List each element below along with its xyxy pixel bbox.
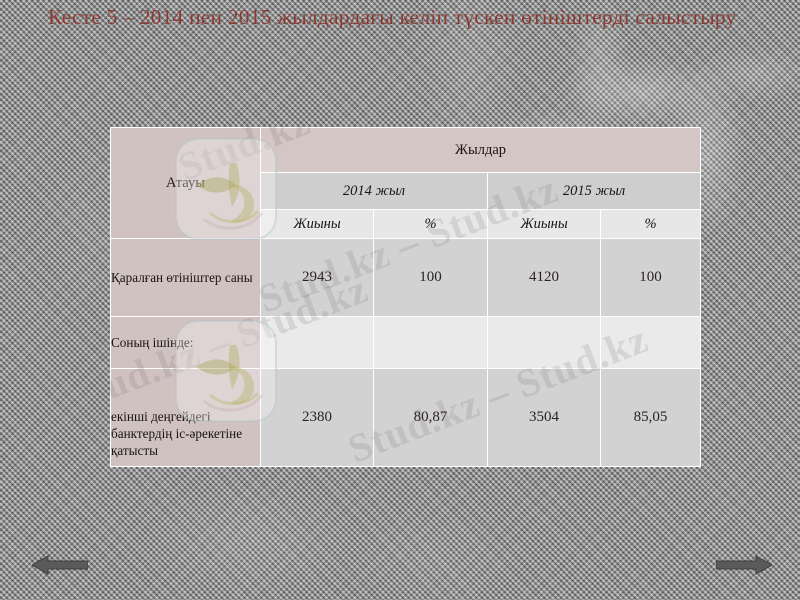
header-2015-percent: %: [601, 210, 701, 239]
header-year-2015: 2015 жыл: [488, 173, 701, 210]
table-body: Қаралған өтініштер саны 2943 100 4120 10…: [111, 239, 701, 467]
comparison-table: Атауы Жылдар 2014 жыл 2015 жыл Жиыны % Ж…: [110, 127, 701, 467]
cell-2014-total: 2943: [261, 239, 374, 317]
table-row: екінші деңгейдегі банктердің іс-әрекетін…: [111, 369, 701, 467]
slide-title: Кесте 5 – 2014 пен 2015 жылдардағы келіп…: [48, 2, 778, 32]
cell-2015-percent: 100: [601, 239, 701, 317]
table-row: Қаралған өтініштер саны 2943 100 4120 10…: [111, 239, 701, 317]
table-row: Соның ішінде:: [111, 317, 701, 369]
cell-2015-percent: 85,05: [601, 369, 701, 467]
cell-2014-total: [261, 317, 374, 369]
row-label-second-tier-banks: екінші деңгейдегі банктердің іс-әрекетін…: [111, 369, 261, 467]
cell-2015-total: [488, 317, 601, 369]
cell-2014-percent: [374, 317, 488, 369]
table-header: Атауы Жылдар 2014 жыл 2015 жыл Жиыны % Ж…: [111, 128, 701, 239]
row-label-total-applications: Қаралған өтініштер саны: [111, 239, 261, 317]
cell-2015-total: 3504: [488, 369, 601, 467]
header-2015-total: Жиыны: [488, 210, 601, 239]
cell-2014-total: 2380: [261, 369, 374, 467]
previous-slide-arrow-icon[interactable]: [32, 552, 88, 578]
header-years-group: Жылдар: [261, 128, 701, 173]
cell-2014-percent: 100: [374, 239, 488, 317]
header-year-2014: 2014 жыл: [261, 173, 488, 210]
header-name-column: Атауы: [111, 128, 261, 239]
comparison-table-container: Атауы Жылдар 2014 жыл 2015 жыл Жиыны % Ж…: [110, 127, 700, 463]
header-2014-total: Жиыны: [261, 210, 374, 239]
header-2014-percent: %: [374, 210, 488, 239]
cell-2015-total: 4120: [488, 239, 601, 317]
next-slide-arrow-icon[interactable]: [716, 552, 772, 578]
cell-2014-percent: 80,87: [374, 369, 488, 467]
slide-canvas: Кесте 5 – 2014 пен 2015 жылдардағы келіп…: [0, 0, 800, 600]
header-row-group: Атауы Жылдар: [111, 128, 701, 173]
row-label-including: Соның ішінде:: [111, 317, 261, 369]
cell-2015-percent: [601, 317, 701, 369]
